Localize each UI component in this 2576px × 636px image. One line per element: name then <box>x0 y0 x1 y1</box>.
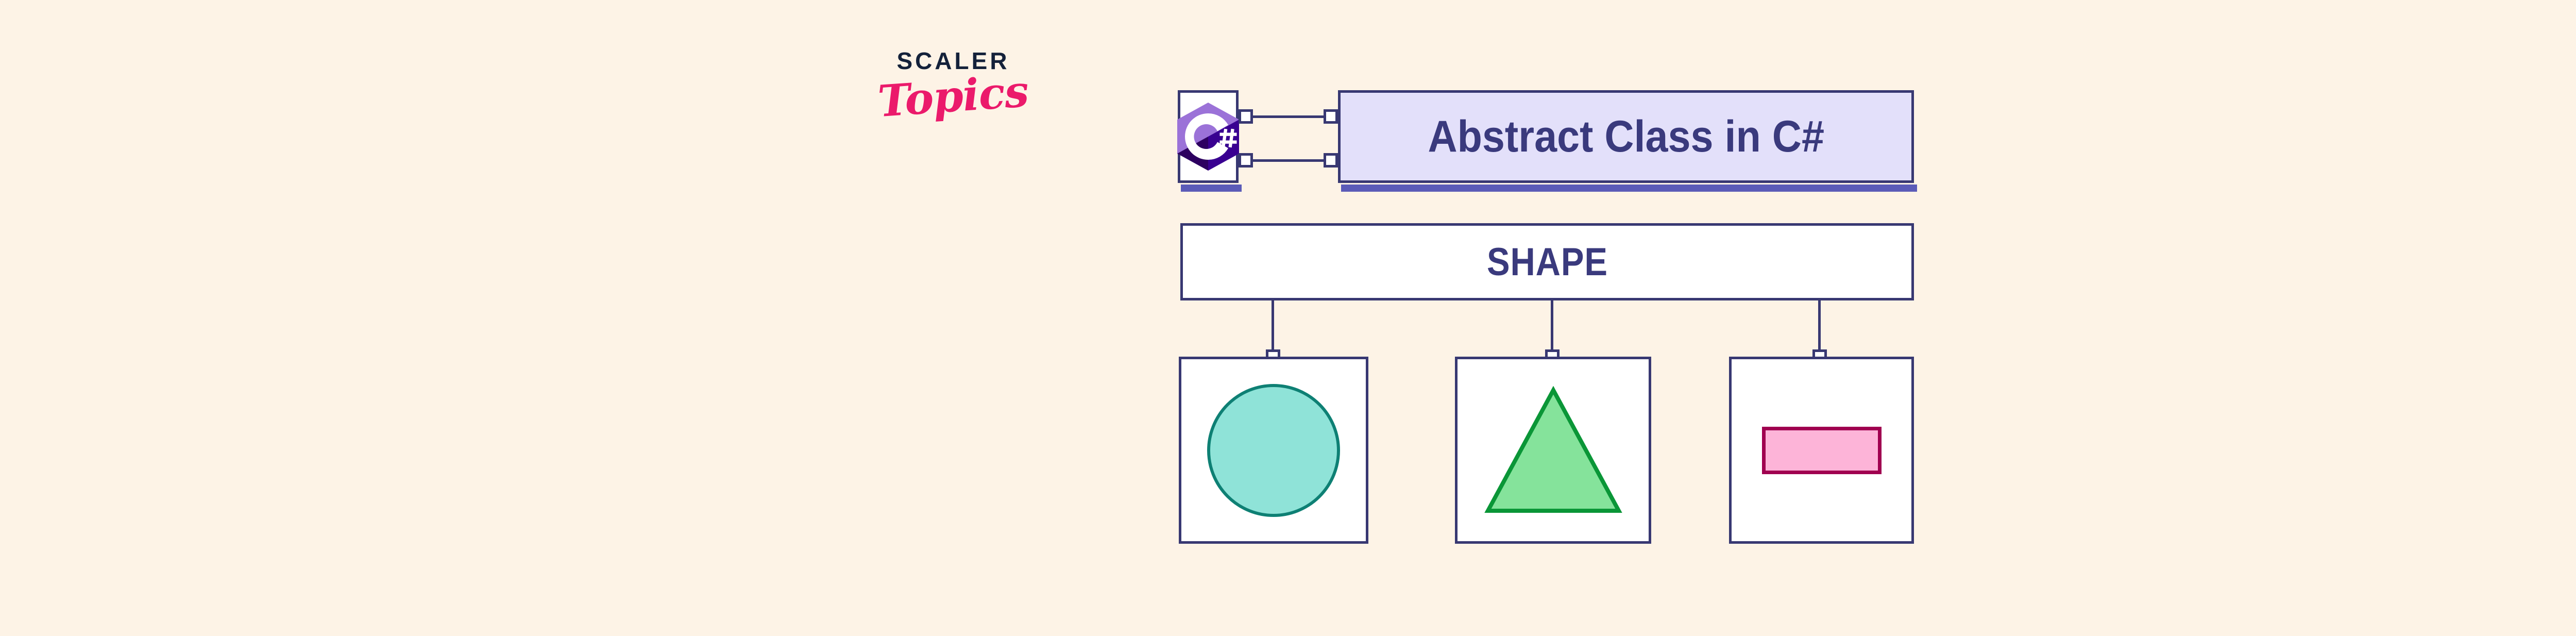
header-connector-line-top <box>1252 115 1325 118</box>
derived-shape-node-triangle[interactable] <box>1455 357 1651 544</box>
csharp-logo-icon <box>1170 98 1247 175</box>
diagram-canvas: SCALER Topics <box>0 0 2576 636</box>
base-class-node-shape[interactable]: SHAPE <box>1180 223 1914 300</box>
title-node-shadow <box>1341 185 1917 192</box>
triangle-figure-icon <box>1484 386 1623 515</box>
connector-port-title-bottom[interactable] <box>1324 153 1338 168</box>
title-node-label: Abstract Class in C# <box>1428 111 1824 162</box>
connector-port-icon-top[interactable] <box>1239 109 1253 124</box>
csharp-icon-node[interactable] <box>1178 90 1239 183</box>
tree-connector-line-triangle <box>1551 300 1553 349</box>
tree-connector-line-circle <box>1272 300 1274 349</box>
tree-connector-line-rectangle <box>1818 300 1821 349</box>
derived-shape-node-rectangle[interactable] <box>1729 357 1914 544</box>
icon-node-shadow <box>1181 185 1242 192</box>
title-node[interactable]: Abstract Class in C# <box>1338 90 1914 183</box>
derived-shape-node-circle[interactable] <box>1179 357 1368 544</box>
header-connector-line-bottom <box>1252 159 1325 162</box>
scaler-topics-logo: SCALER Topics <box>876 49 1030 142</box>
base-class-label: SHAPE <box>1487 240 1608 284</box>
circle-figure-icon <box>1207 384 1340 517</box>
connector-port-icon-bottom[interactable] <box>1239 153 1253 168</box>
logo-product-text: Topics <box>874 70 1031 124</box>
connector-port-title-top[interactable] <box>1324 109 1338 124</box>
rectangle-figure-icon <box>1762 427 1882 474</box>
